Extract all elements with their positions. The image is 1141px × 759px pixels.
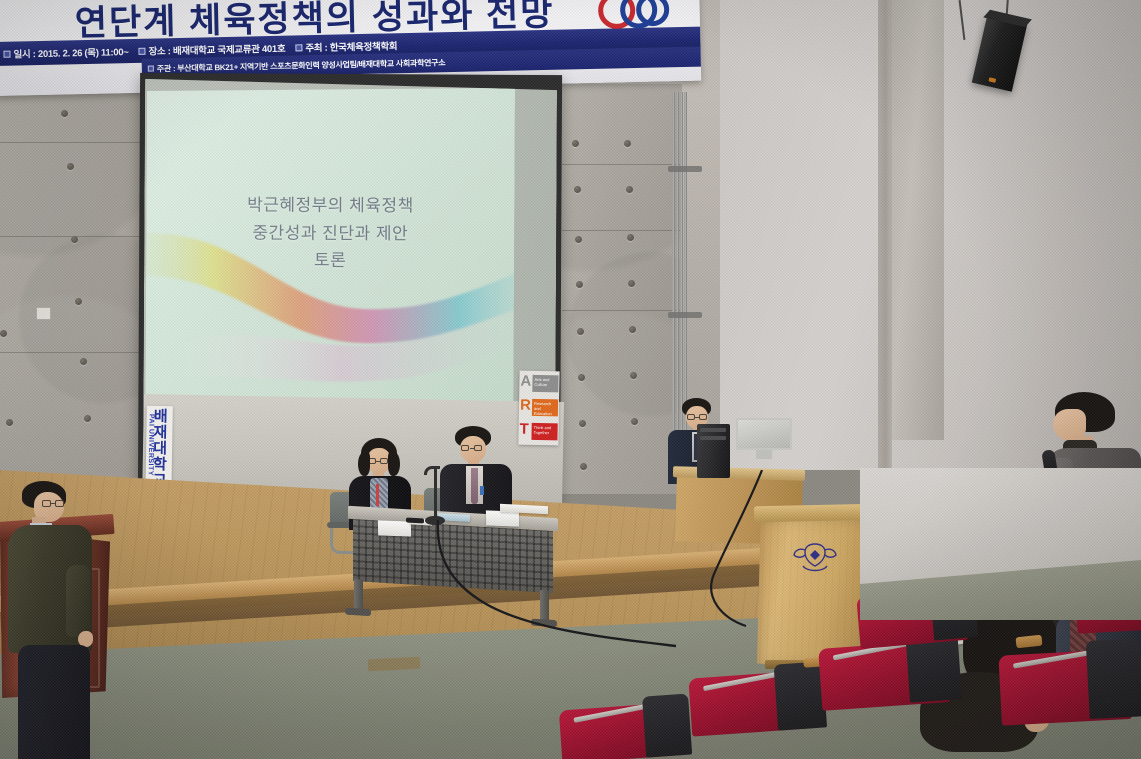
square-bullet-icon (148, 66, 154, 72)
form-tie-hole (61, 110, 68, 117)
nameplate (378, 520, 411, 536)
art-caption-a: Arts and Culture (532, 375, 558, 392)
art-letter-r: R (520, 398, 532, 413)
art-caption-a-text: Arts and Culture (532, 375, 558, 387)
conduit-clamp (668, 312, 702, 318)
square-bullet-icon (295, 44, 302, 51)
auditorium-seat (558, 688, 692, 759)
art-caption-t: Think and Together (531, 423, 557, 440)
seminar-photo: 체육술세미나 연단계 체육정책의 성과와 전망 일시 : 2015. 2. 26… (0, 0, 1141, 759)
form-tie-hole (576, 281, 583, 288)
auditorium-seat (998, 636, 1141, 733)
panelist-female-hair-side (358, 452, 370, 476)
form-tie-hole (572, 140, 579, 147)
form-tie-hole (579, 420, 586, 427)
concrete-wall-center (562, 84, 682, 494)
slide-title-line-1: 박근혜정부의 체육정책 (146, 191, 514, 220)
form-tie-hole (628, 280, 635, 287)
form-tie-hole (67, 163, 74, 170)
form-tie-hole (624, 140, 631, 147)
art-poster: A Arts and Culture R Research and Educat… (518, 371, 559, 446)
banner-info-label: 주최 : 한국체육정책학회 (305, 38, 397, 54)
monitor-stand (756, 450, 772, 459)
form-tie-hole (6, 419, 13, 426)
form-tie-hole (629, 326, 636, 333)
microphone-cable (408, 520, 738, 660)
art-letter-t: T (519, 422, 531, 437)
square-bullet-icon (138, 47, 145, 54)
moderator-standing (8, 481, 104, 759)
form-tie-hole (580, 463, 587, 470)
glasses-icon (461, 445, 485, 452)
seat-backrest (1086, 638, 1141, 719)
form-tie-hole (80, 358, 87, 365)
panelist-female-hair-side (388, 452, 400, 476)
speaker-badge (988, 77, 996, 82)
panelist-female-lanyard (376, 484, 379, 506)
art-letter-a: A (520, 374, 532, 389)
wall-seam (0, 142, 142, 143)
moderator-trousers (18, 645, 90, 759)
right-pillar (890, 0, 944, 440)
wall-outlet (36, 307, 51, 320)
wall-seam (562, 230, 682, 231)
banner-info-item: 일시 : 2015. 2. 26 (목) 11:00~ (3, 44, 128, 61)
microphone-gooseneck (424, 466, 440, 475)
form-tie-hole (630, 372, 637, 379)
moderator-arm (66, 565, 90, 637)
table-leg (354, 579, 363, 612)
seat-backrest (642, 694, 692, 758)
form-tie-hole (626, 186, 633, 193)
banner-info-item: 주최 : 한국체육정책학회 (295, 38, 397, 54)
wall-seam (562, 310, 682, 311)
drive-bay-icon (700, 436, 726, 440)
banner-info-item: 주관 : 부산대학교 BK21+ 지역기반 스포츠문화인력 양성사업팀/배재대학… (148, 57, 446, 74)
kspa-logo-icon (594, 0, 673, 31)
art-caption-r: Research and Education (532, 399, 558, 416)
crt-monitor (736, 418, 792, 459)
art-caption-t-text: Think and Together (532, 423, 558, 435)
conduit-clamp (668, 166, 702, 172)
glasses-icon (42, 500, 64, 508)
banner-info-label: 주관 : 부산대학교 BK21+ 지역기반 스포츠문화인력 양성사업팀/배재대학… (157, 57, 446, 74)
paichai-banner-en: PAI UNIVERSITY (147, 414, 155, 476)
table-foot (345, 608, 371, 617)
form-tie-hole (577, 328, 584, 335)
form-tie-hole (631, 418, 638, 425)
slide-title-line-3: 토론 (146, 246, 514, 275)
auditorium-seat (688, 657, 828, 742)
form-tie-hole (84, 415, 91, 422)
form-tie-hole (575, 236, 582, 243)
form-tie-hole (71, 236, 78, 243)
form-tie-hole (627, 234, 634, 241)
microphone-stem (434, 468, 437, 520)
optical-drive-icon (700, 428, 726, 432)
concrete-wall-left (0, 66, 142, 480)
wall-seam (0, 352, 142, 353)
panelist-male-badge (480, 486, 484, 495)
square-bullet-icon (3, 50, 10, 57)
university-crest-icon (791, 541, 839, 577)
glasses-icon (687, 414, 708, 421)
form-tie-hole (75, 298, 82, 305)
pillar-edge-shadow (878, 0, 892, 500)
form-tie-hole (0, 330, 7, 337)
wall-seam (562, 164, 682, 165)
glasses-icon (368, 458, 390, 465)
monitor-screen (736, 418, 792, 450)
form-tie-hole (578, 374, 585, 381)
panelist-male-tie (471, 468, 478, 504)
form-tie-hole (574, 186, 581, 193)
art-caption-r-text: Research and Education (532, 399, 558, 416)
banner-info-label: 일시 : 2015. 2. 26 (목) 11:00~ (13, 44, 128, 61)
slide-title: 박근혜정부의 체육정책 중간성과 진단과 제안 토론 (146, 191, 514, 276)
slide-title-line-2: 중간성과 진단과 제안 (146, 218, 514, 247)
